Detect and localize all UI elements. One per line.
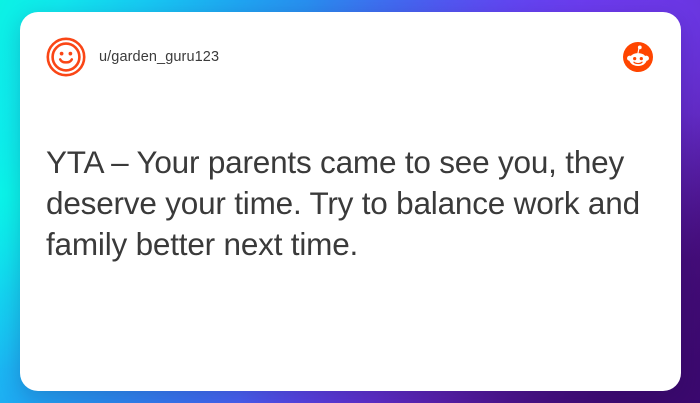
card-header: u/garden_guru123	[46, 34, 655, 80]
card-body: YTA – Your parents came to see you, they…	[46, 80, 655, 365]
smiley-face-avatar-icon[interactable]	[46, 37, 86, 77]
reddit-comment-card: u/garden_guru123 YTA – Your parent	[20, 12, 681, 391]
author-row[interactable]: u/garden_guru123	[46, 37, 219, 77]
comment-text: YTA – Your parents came to see you, they…	[46, 142, 646, 265]
reddit-snoo-logo-icon[interactable]	[623, 42, 653, 72]
username-label: u/garden_guru123	[99, 49, 219, 65]
screenshot-root: u/garden_guru123 YTA – Your parent	[0, 0, 700, 403]
